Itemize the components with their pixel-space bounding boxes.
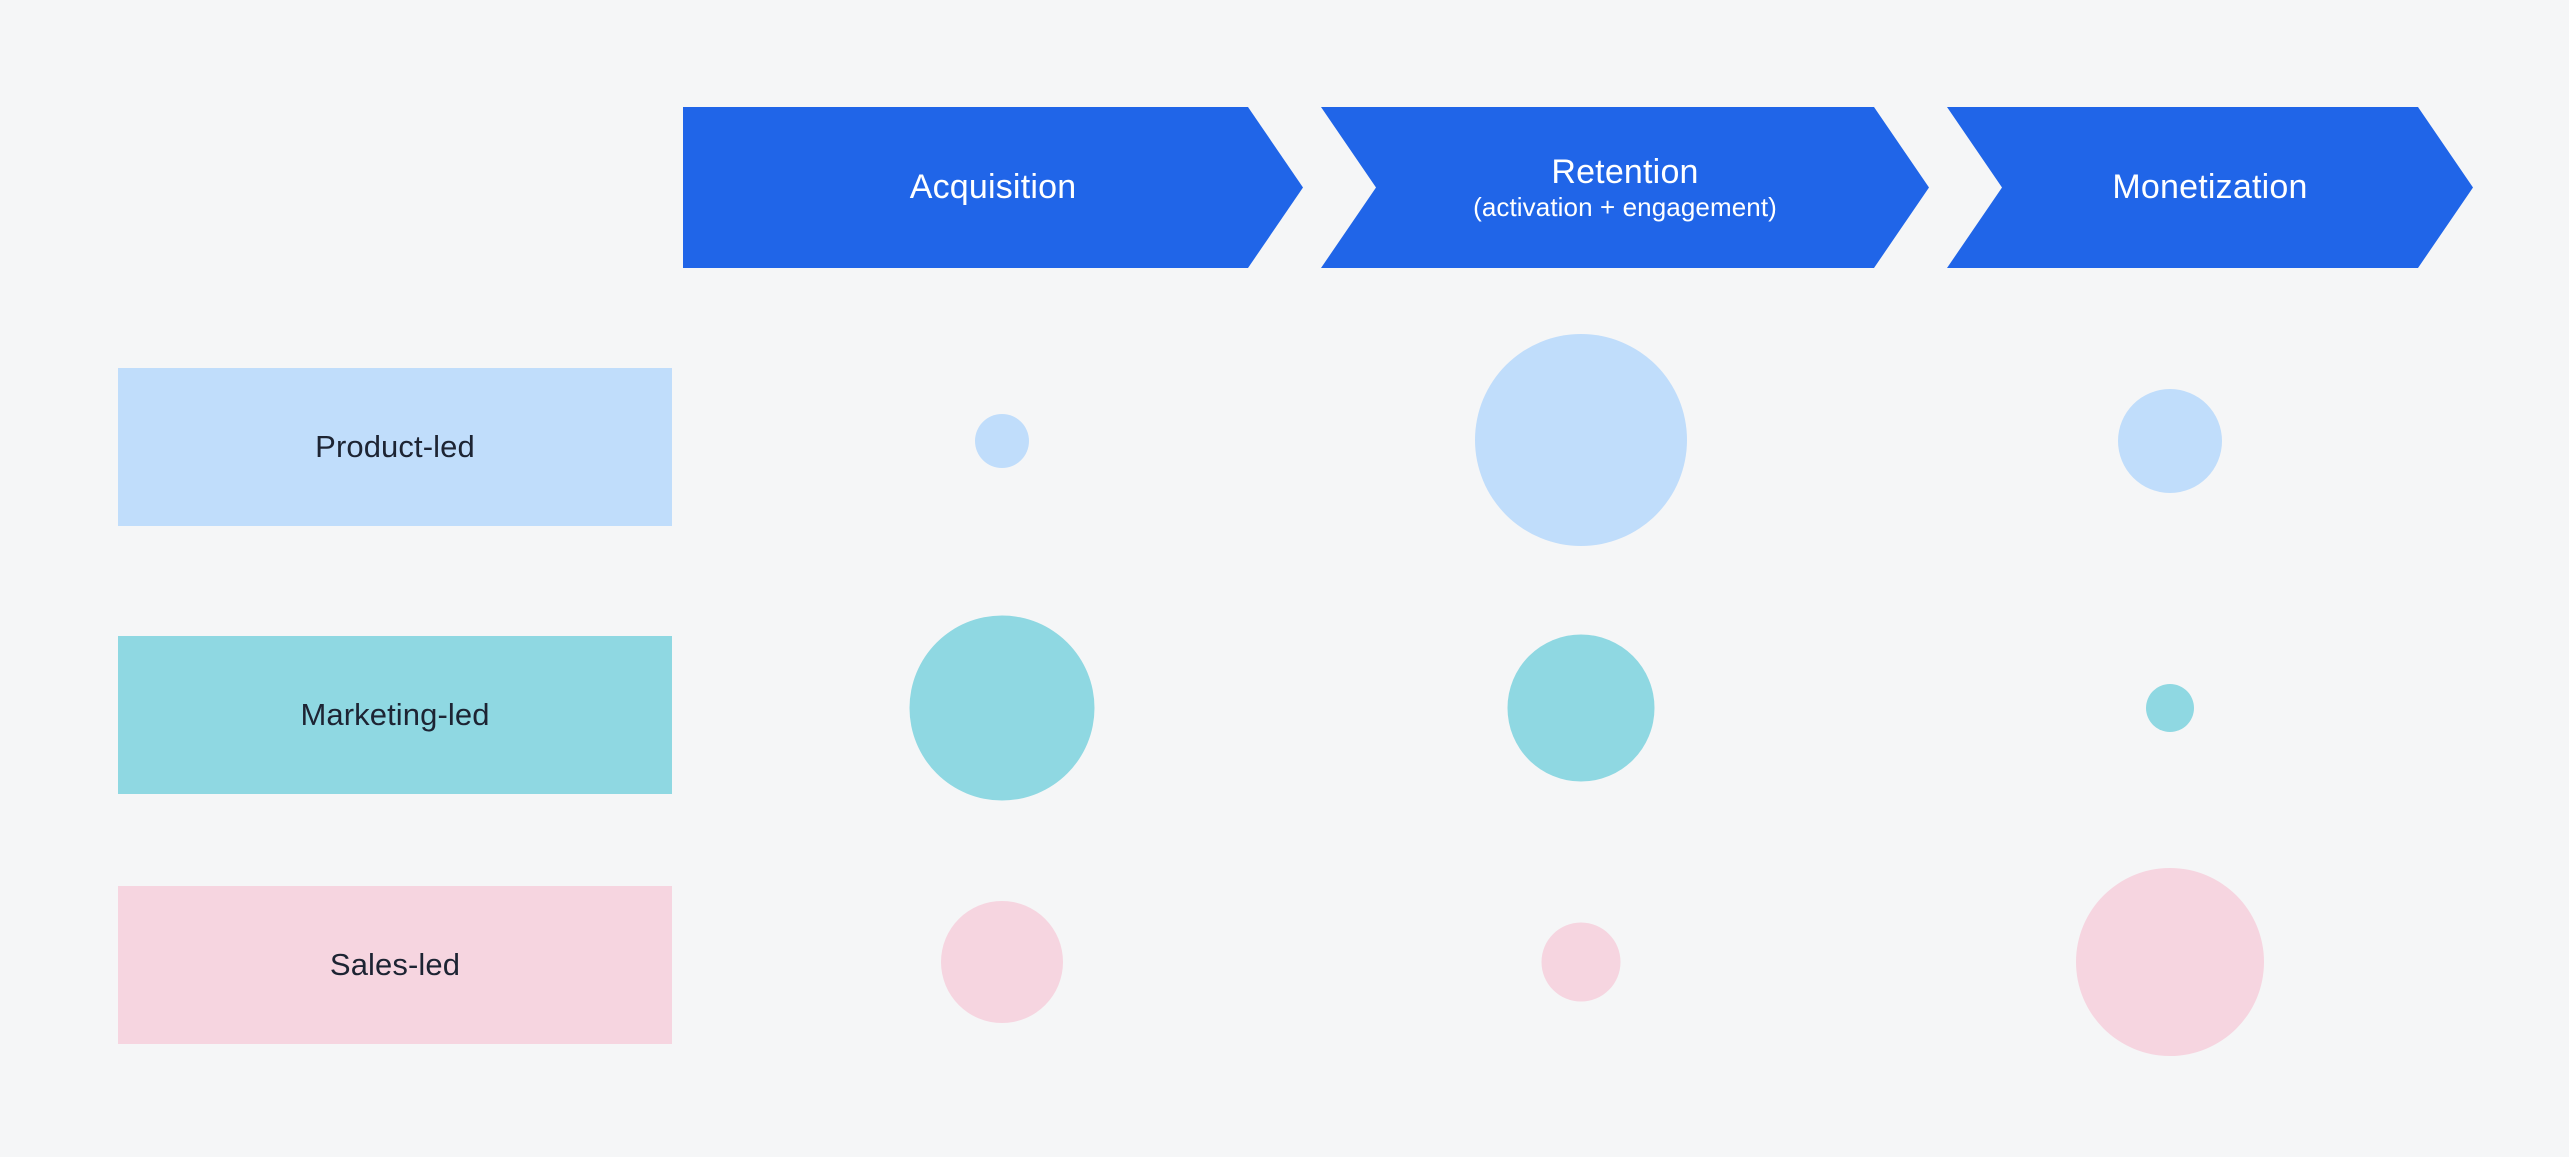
row-label-marketing-led[interactable]: Marketing-led <box>118 636 672 794</box>
bubble-marketing-led-acquisition[interactable] <box>910 616 1095 801</box>
bubble-sales-led-acquisition[interactable] <box>941 901 1063 1023</box>
diagram-canvas: Acquisition Retention (activation + enga… <box>0 0 2569 1157</box>
bubble-product-led-monetization[interactable] <box>2118 389 2222 493</box>
row-label-product-led[interactable]: Product-led <box>118 368 672 526</box>
row-label-text: Sales-led <box>330 947 460 983</box>
stage-sublabel-retention: (activation + engagement) <box>1473 193 1777 222</box>
bubble-product-led-retention[interactable] <box>1475 334 1687 546</box>
stage-label-monetization: Monetization <box>2112 168 2307 206</box>
stage-label-retention: Retention <box>1551 153 1698 191</box>
stage-label-acquisition: Acquisition <box>910 168 1077 206</box>
stage-chevron-acquisition[interactable]: Acquisition <box>683 107 1303 268</box>
row-label-sales-led[interactable]: Sales-led <box>118 886 672 1044</box>
bubble-product-led-acquisition[interactable] <box>975 414 1029 468</box>
bubble-marketing-led-retention[interactable] <box>1508 635 1655 782</box>
bubble-sales-led-monetization[interactable] <box>2076 868 2264 1056</box>
stage-chevron-retention[interactable]: Retention (activation + engagement) <box>1321 107 1929 268</box>
bubble-marketing-led-monetization[interactable] <box>2146 684 2194 732</box>
row-label-text: Marketing-led <box>300 697 489 733</box>
stage-chevron-monetization[interactable]: Monetization <box>1947 107 2473 268</box>
bubble-sales-led-retention[interactable] <box>1542 923 1621 1002</box>
row-label-text: Product-led <box>315 429 475 465</box>
funnel-stage-header: Acquisition Retention (activation + enga… <box>683 107 2473 268</box>
